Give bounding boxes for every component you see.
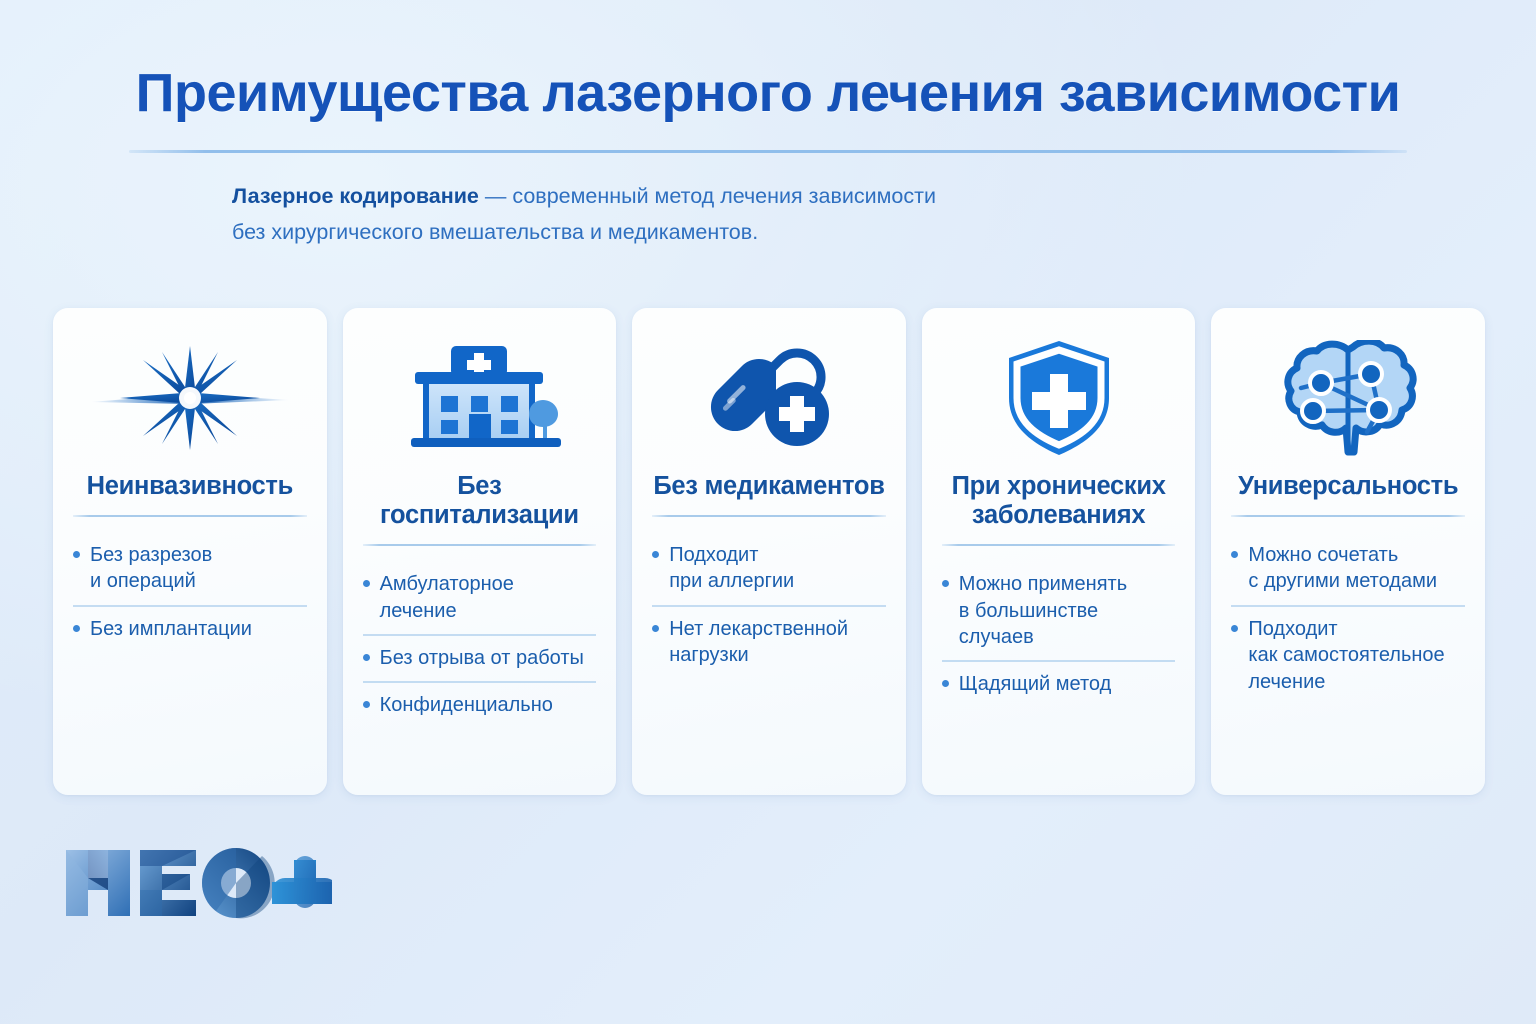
bullet-text: Подходит при аллергии <box>669 542 886 595</box>
list-item: Амбулаторное лечение <box>363 562 597 634</box>
bullet-dot-icon <box>1231 625 1238 632</box>
benefit-card-no-medication[interactable]: Без медикаментов Подходит при аллергии Н… <box>632 308 906 795</box>
bullet-text: Амбулаторное лечение <box>380 571 597 624</box>
list-item: Нет лекарственной нагрузки <box>652 605 886 679</box>
subtitle-highlight: Лазерное кодирование <box>232 184 479 208</box>
benefit-list: Без разрезов и операций Без имплантации <box>73 533 307 652</box>
bullet-dot-icon <box>1231 551 1238 558</box>
bullet-text: Без отрыва от работы <box>380 645 597 671</box>
list-item: Щадящий метод <box>942 660 1176 707</box>
pill-capsule-icon <box>694 342 844 454</box>
subtitle-block: Лазерное кодирование — современный метод… <box>232 178 1212 250</box>
card-title-divider <box>1231 515 1465 517</box>
hospital-building-icon <box>393 342 565 454</box>
card-title: При хронических заболеваниях <box>942 472 1176 530</box>
bullet-text: Конфиденциально <box>380 692 597 718</box>
benefit-card-chronic-conditions[interactable]: При хронических заболеваниях Можно приме… <box>922 308 1196 795</box>
list-item: Без отрыва от работы <box>363 634 597 681</box>
list-item: Без разрезов и операций <box>73 533 307 605</box>
bullet-text: Без разрезов и операций <box>90 542 307 595</box>
list-item: Без имплантации <box>73 605 307 652</box>
bullet-dot-icon <box>942 680 949 687</box>
benefit-list: Амбулаторное лечение Без отрыва от работ… <box>363 562 597 729</box>
card-title: Без госпитализации <box>363 472 597 530</box>
page-header: Преимущества лазерного лечения зависимос… <box>0 0 1536 153</box>
card-title-divider <box>363 544 597 546</box>
bullet-dot-icon <box>73 625 80 632</box>
benefit-cards-row: Неинвазивность Без разрезов и операций Б… <box>53 308 1485 795</box>
list-item: Конфиденциально <box>363 681 597 728</box>
benefit-card-universality[interactable]: Универсальность Можно сочетать с другими… <box>1211 308 1485 795</box>
bullet-dot-icon <box>652 625 659 632</box>
benefit-list: Можно применять в большинстве случаев Ща… <box>942 562 1176 708</box>
bullet-dot-icon <box>73 551 80 558</box>
bullet-dot-icon <box>652 551 659 558</box>
bullet-text: Можно применять в большинстве случаев <box>959 571 1176 650</box>
brand-logo-neo-plus <box>62 838 332 930</box>
bullet-text: Подходит как самостоятельное лечение <box>1248 616 1465 695</box>
bullet-text: Щадящий метод <box>959 671 1176 697</box>
card-title-divider <box>73 515 307 517</box>
bullet-dot-icon <box>363 580 370 587</box>
benefit-list: Можно сочетать с другими методами Подход… <box>1231 533 1465 705</box>
title-divider <box>129 150 1407 153</box>
card-title-divider <box>942 544 1176 546</box>
laser-burst-icon <box>90 342 290 454</box>
bullet-dot-icon <box>363 701 370 708</box>
bullet-text: Без имплантации <box>90 616 307 642</box>
benefit-card-no-hospitalization[interactable]: Без госпитализации Амбулаторное лечение … <box>343 308 617 795</box>
card-title: Без медикаментов <box>652 472 886 501</box>
list-item: Можно применять в большинстве случаев <box>942 562 1176 660</box>
subtitle-rest: — современный метод лечения зависимости <box>479 184 936 208</box>
card-title: Неинвазивность <box>73 472 307 501</box>
bullet-dot-icon <box>942 580 949 587</box>
page-title: Преимущества лазерного лечения зависимос… <box>0 0 1536 120</box>
benefit-list: Подходит при аллергии Нет лекарственной … <box>652 533 886 679</box>
bullet-text: Можно сочетать с другими методами <box>1248 542 1465 595</box>
list-item: Подходит как самостоятельное лечение <box>1231 605 1465 705</box>
subtitle-line-2: без хирургического вмешательства и медик… <box>232 214 1212 250</box>
shield-cross-icon <box>997 342 1121 454</box>
subtitle-line-1: Лазерное кодирование — современный метод… <box>232 178 1212 214</box>
bullet-text: Нет лекарственной нагрузки <box>669 616 886 669</box>
benefit-card-noninvasive[interactable]: Неинвазивность Без разрезов и операций Б… <box>53 308 327 795</box>
list-item: Можно сочетать с другими методами <box>1231 533 1465 605</box>
card-title: Универсальность <box>1231 472 1465 501</box>
card-title-divider <box>652 515 886 517</box>
list-item: Подходит при аллергии <box>652 533 886 605</box>
bullet-dot-icon <box>363 654 370 661</box>
brain-network-icon <box>1275 342 1421 454</box>
